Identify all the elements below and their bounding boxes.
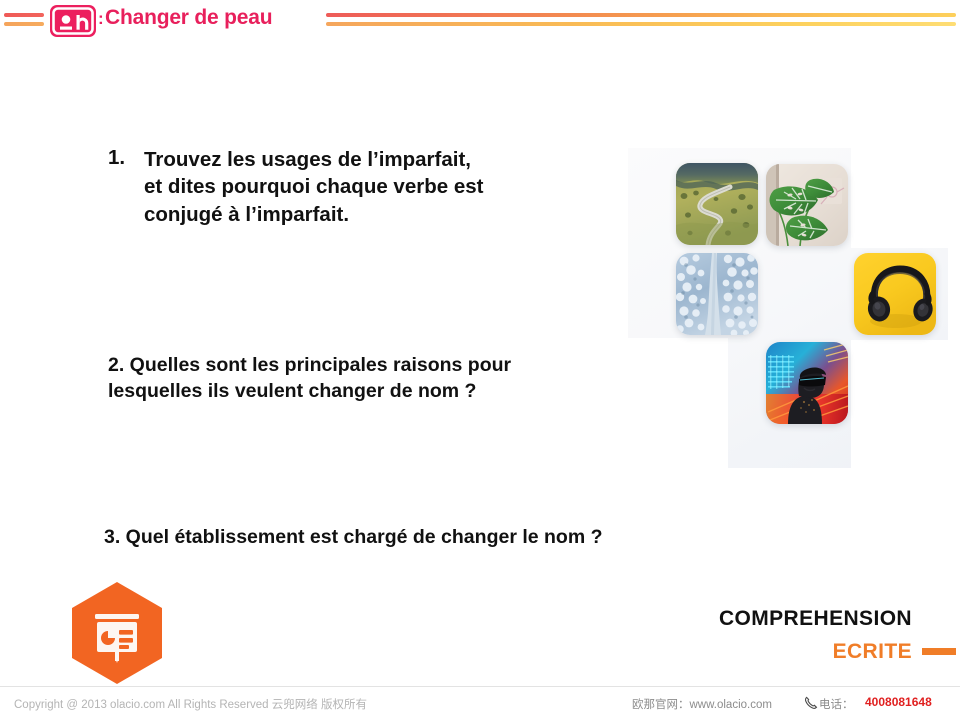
olacio-on-logo [50,5,96,37]
slide-header: : Changer de peau [0,0,960,42]
footer-website: 欧那官网：www.olacio.com [632,696,772,712]
thumbnail-snowy-forest-aerial[interactable] [676,253,758,335]
footer-tel-label: 电话： [819,696,854,712]
header-rule-right-top [326,13,956,17]
header-rule-left-bottom [4,22,44,26]
phone-icon [804,696,818,710]
brand-label-line2: ECRITE [694,640,912,664]
collage-white-mask-topright [851,148,960,248]
thumbnail-monstera-plant[interactable] [766,164,848,246]
header-separator: : [98,9,104,29]
presentation-board-icon [67,581,167,685]
question-1-text: Trouvez les usages de l’imparfait, et di… [108,146,578,228]
brand-accent-dash [922,648,956,655]
footer-copyright: Copyright @ 2013 olacio.com All Rights R… [14,696,367,712]
footer-divider [0,686,960,687]
header-rule-right-bottom [326,22,956,26]
header-rule-left-top [4,13,44,17]
collage-white-mask-bottomright [851,340,960,470]
question-2-text: 2. Quelles sont les principales raisons … [108,353,668,405]
brand-label-line1: COMPREHENSION [694,607,912,631]
slide-canvas: : Changer de peau [0,0,960,720]
page-title: Changer de peau [105,6,272,30]
thumbnail-yellow-headphones[interactable] [854,253,936,335]
thumbnail-neon-portrait[interactable] [766,342,848,424]
thumbnail-winding-mountain-road[interactable] [676,163,758,245]
question-3-text: 3. Quel établissement est chargé de chan… [104,525,784,551]
footer-tel-number[interactable]: 4008081648 [865,695,932,709]
